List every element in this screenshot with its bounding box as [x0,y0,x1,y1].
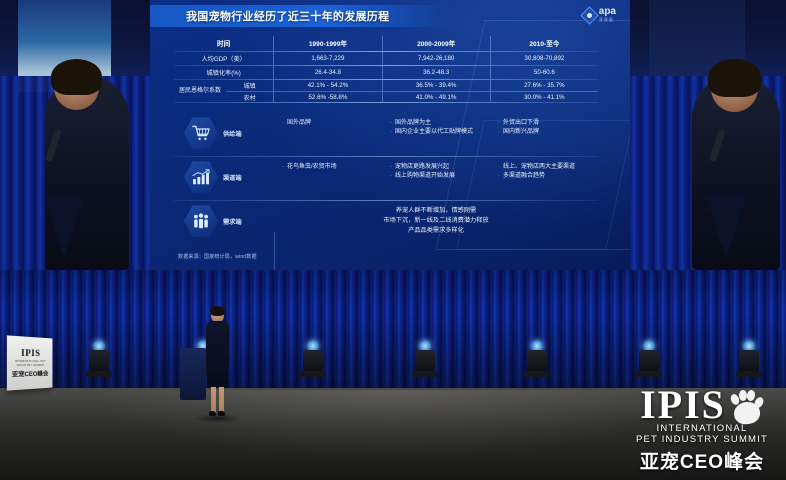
table-row-engel: 居民恩格尔系数 城镇 农村 42.1% - 54.2% 52.6% -58.8%… [174,80,598,102]
stage-light [86,340,112,380]
bullet-text: 线上、宠物店两大主要渠道 [503,163,575,172]
screenshot-root: 我国宠物行业经历了近三十年的发展历程 apa 亚宠展 时间 1990-1999年… [0,0,786,480]
speaker-shoe [218,411,225,416]
stage-podium [180,348,206,400]
bullet-item: · 外贸出口下滑 [498,119,594,128]
stage-floor-glow [94,390,691,460]
podium-logo-en: INTERNATIONAL PET INDUSTRY SUMMIT [7,360,53,367]
bullet-text: 国内企业主要以代工贴牌模式 [395,128,473,137]
stage-light [412,340,438,380]
section-label: 供给端 [223,129,242,138]
section-icon-wrap: 供给端 [174,116,274,150]
table-cell: 27.6% - 35.7% [491,80,598,91]
table-row-label: 城镇化率(%) [174,66,273,79]
bullet-dot-icon: · [498,172,500,181]
section-label: 渠道端 [223,173,242,182]
bullet-text: 多渠道融合趋势 [503,172,545,181]
stage-light [300,340,326,380]
ipis-logo-en-line2: PET INDUSTRY SUMMIT [626,435,778,446]
podium-logo-sign: IPIS INTERNATIONAL PET INDUSTRY SUMMIT 亚… [7,335,53,390]
table-cell: 26.4-34.8 [274,66,381,79]
table-cell: 1,663-7,229 [274,52,381,65]
section-center-column: 养宠人群不断增加，情感刚需 市场下沉，新一线及二线消费潜力释放 产品品类需求多样… [274,204,598,238]
table-row: 城镇化率(%) 26.4-34.8 36.2-48.3 50-60.6 [174,66,598,79]
bullet-text: 外贸出口下滑 [503,119,539,128]
table-sublabel-group: 城镇 农村 [226,80,273,102]
ipis-logo-word: IPIS [640,387,726,424]
bullet-dot-icon: · [498,128,500,137]
section-supply: 供给端 · 国外品牌 · 国外品牌为主 · 国内企业主要 [174,116,598,150]
table-cell-group: 42.1% - 54.2% 52.6% -58.8% [274,80,381,102]
top-band: 我国宠物行业经历了近三十年的发展历程 apa 亚宠展 时间 1990-1999年… [0,0,786,270]
section-divider [174,200,598,201]
center-text-line: 市场下沉，新一线及二线消费潜力释放 [383,216,488,226]
hex-badge [184,116,218,150]
section-column: · 宠物店更路发展兴起 · 线上购物渠道开始发展 [382,160,490,194]
table-row-label: 人均GDP（美） [174,52,273,65]
center-text-line: 产品品类需求多样化 [383,226,488,236]
table-header-cell: 2000-2009年 [383,36,490,51]
bar-chart-icon [192,169,210,185]
section-column: · 线上、宠物店两大主要渠道 · 多渠道融合趋势 [490,160,598,194]
section-column: · 国外品牌 [274,116,382,150]
hex-badge [184,204,218,238]
speaker-lapel [706,196,746,258]
center-text-block: 养宠人群不断增加，情感刚需 市场下沉，新一线及二线消费潜力释放 产品品类需求多样… [383,206,488,236]
apa-logo-text: apa [599,7,616,17]
table-sublabel: 城镇 [226,80,273,91]
bullet-item: · 国内企业主要以代工贴牌模式 [390,128,486,137]
section-demand: 需求端 养宠人群不断增加，情感刚需 市场下沉，新一线及二线消费潜力释放 产品品类… [174,204,598,238]
camera-feed-right [630,0,786,270]
bullet-item: · 国外品牌 [282,119,378,128]
bullet-text: 花鸟鱼虫/农贸市场 [287,163,337,172]
speaker-body [206,321,229,367]
section-column: · 花鸟鱼虫/农贸市场 [274,160,382,194]
section-channel: 渠道端 · 花鸟鱼虫/农贸市场 · 宠物店更路发展兴起 · [174,160,598,194]
bullet-item: · 多渠道融合趋势 [498,172,594,181]
speaker-hair [708,59,761,96]
table-row-label: 居民恩格尔系数 [174,80,226,102]
table-sublabel: 农村 [226,91,273,102]
bullet-item: · 线上、宠物店两大主要渠道 [498,163,594,172]
table-cell: 30.0% - 41.1% [491,91,598,102]
section-column: · 外贸出口下滑 · 国内新兴品牌 [490,116,598,150]
apa-logo: apa 亚宠展 [583,7,616,23]
bullet-dot-icon: · [390,128,392,137]
data-table: 时间 1990-1999年 2000-2009年 2010-至今 人均GDP（美… [174,36,598,103]
speaker-hair [210,306,225,316]
speaker-hair [51,59,102,95]
bullet-dot-icon: · [390,119,392,128]
presentation-slide: 我国宠物行业经历了近三十年的发展历程 apa 亚宠展 时间 1990-1999年… [150,0,630,270]
table-cell: 30,808-70,892 [491,52,598,65]
bullet-item: · 国内新兴品牌 [498,128,594,137]
section-column: · 国外品牌为主 · 国内企业主要以代工贴牌模式 [382,116,490,150]
section-icon-wrap: 渠道端 [174,160,274,194]
bullet-dot-icon: · [498,119,500,128]
podium-logo-word: IPIS [21,348,40,358]
table-cell: 42.1% - 54.2% [274,80,381,91]
bullet-item: · 国外品牌为主 [390,119,486,128]
bullet-text: 宠物店更路发展兴起 [395,163,449,172]
section-divider [174,156,598,157]
table-row: 人均GDP（美） 1,663-7,229 7,942-26,180 30,808… [174,52,598,65]
table-cell: 36.2-48.3 [383,66,490,79]
stage-light [736,340,762,380]
shopping-cart-icon [192,125,210,141]
table-cell: 7,942-26,180 [383,52,490,65]
stage-curtain [0,270,786,388]
speaker-lapel [44,196,84,258]
table-cell: 41.0% - 49.1% [383,91,490,102]
section-label: 需求端 [223,217,242,226]
stage-light [524,340,550,380]
ipis-logo-cn: 亚宠CEO峰会 [626,447,778,474]
speaker-skirt [207,364,228,388]
table-row-label-group: 居民恩格尔系数 城镇 农村 [174,80,273,102]
bullet-dot-icon: · [282,119,284,128]
ipis-logo-row: IPIS [626,384,778,424]
speaker-leg [211,387,216,413]
table-header-cell: 2010-至今 [491,36,598,51]
slide-title-bar: 我国宠物行业经历了近三十年的发展历程 [150,5,450,27]
ipis-logo: IPIS INTERNATIONAL PET INDUSTRY SUMMIT 亚… [626,384,778,474]
bullet-dot-icon: · [390,172,392,181]
bullet-text: 国外品牌 [287,119,311,128]
table-cell: 50-60.6 [491,66,598,79]
apa-mark-icon [580,6,598,24]
paw-print-icon [730,384,764,424]
hex-badge [184,160,218,194]
stage-light [636,340,662,380]
table-cell: 52.6% -58.8% [274,91,381,102]
table-cell: 36.5% - 39.4% [383,80,490,91]
table-header-cell: 时间 [174,36,273,51]
bullet-dot-icon: · [282,163,284,172]
center-text-line: 养宠人群不断增加，情感刚需 [383,206,488,216]
table-cell-group: 27.6% - 35.7% 30.0% - 41.1% [491,80,598,102]
camera-feed-left [0,0,150,270]
table-divider [174,102,598,103]
table-header-cell: 1990-1999年 [274,36,381,51]
bullet-dot-icon: · [390,163,392,172]
speaker-shoe [209,411,216,416]
bullet-text: 线上购物渠道开始发展 [395,172,455,181]
bullet-item: · 线上购物渠道开始发展 [390,172,486,181]
bullet-dot-icon: · [498,163,500,172]
bullet-text: 国外品牌为主 [395,119,431,128]
speaker-leg [219,387,224,413]
table-header-row: 时间 1990-1999年 2000-2009年 2010-至今 [174,36,598,51]
slide-title: 我国宠物行业经历了近三十年的发展历程 [150,8,389,24]
podium-logo-cn: 亚宠CEO峰会 [12,368,49,378]
bullet-text: 国内新兴品牌 [503,128,539,137]
section-icon-wrap: 需求端 [174,204,274,238]
bullet-item: · 花鸟鱼虫/农贸市场 [282,163,378,172]
bullet-item: · 宠物店更路发展兴起 [390,163,486,172]
slide-source-note: 数据来源：国家统计局，wind数据 [178,253,257,260]
apa-logo-sub: 亚宠展 [599,17,616,23]
table-cell-group: 36.5% - 39.4% 41.0% - 49.1% [383,80,490,102]
people-icon [192,213,210,229]
